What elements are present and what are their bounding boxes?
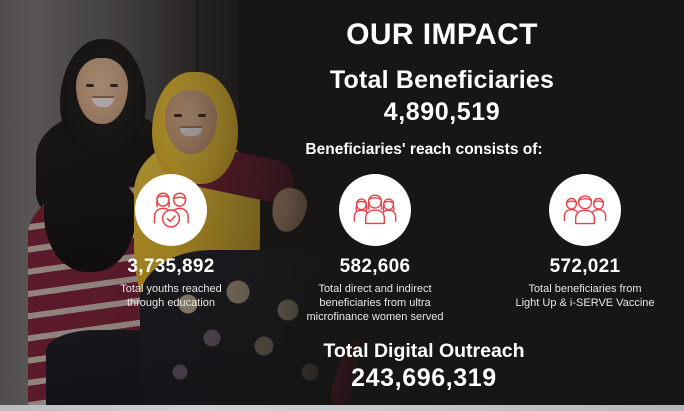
stat-caption-line: Total youths reached [76,282,266,296]
reach-intro-text: Beneficiaries' reach consists of: [204,141,644,159]
page-title: OUR IMPACT [240,18,644,52]
stat-value-vaccine: 572,021 [490,257,680,278]
three-people-icon [549,174,621,246]
stat-caption-microfinance: Total direct and indirect beneficiaries … [280,282,470,324]
stats-row: 3,735,892 Total youths reached through e… [40,174,660,324]
total-beneficiaries-label: Total Beneficiaries [240,66,644,95]
stat-value-youths: 3,735,892 [76,257,266,278]
digital-outreach-label: Total Digital Outreach [204,340,644,363]
stat-caption-line: beneficiaries from ultra [280,296,470,310]
digital-outreach-value: 243,696,319 [204,364,644,393]
stat-caption-line: Total beneficiaries from [490,282,680,296]
stat-caption-youths: Total youths reached through education [76,282,266,310]
stat-caption-line: Total direct and indirect [280,282,470,296]
stat-caption-vaccine: Total beneficiaries from Light Up & i-SE… [490,282,680,310]
stat-value-microfinance: 582,606 [280,257,470,278]
two-people-check-icon [135,174,207,246]
stat-item-youths: 3,735,892 Total youths reached through e… [76,174,266,310]
content-layer: OUR IMPACT Total Beneficiaries 4,890,519… [0,0,684,411]
bottom-edge-strip [0,405,684,411]
impact-infographic: OUR IMPACT Total Beneficiaries 4,890,519… [0,0,684,411]
stat-caption-line: Light Up & i-SERVE Vaccine [490,296,680,310]
stat-caption-line: through education [76,296,266,310]
total-beneficiaries-value: 4,890,519 [240,98,644,127]
stat-item-vaccine: 572,021 Total beneficiaries from Light U… [490,174,680,310]
three-women-icon [339,174,411,246]
stat-item-microfinance: 582,606 Total direct and indirect benefi… [280,174,470,324]
stat-caption-line: microfinance women served [280,310,470,324]
